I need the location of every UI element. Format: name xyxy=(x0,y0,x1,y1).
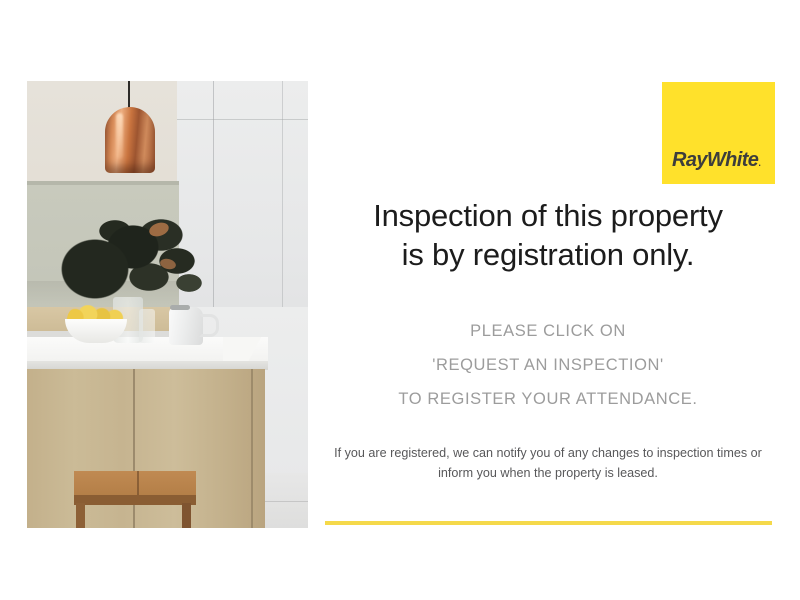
photo-cabinet-seam-vertical-2 xyxy=(282,81,283,321)
registration-note-line-1: If you are registered, we can notify you… xyxy=(334,446,762,460)
headline-line-1: Inspection of this property xyxy=(373,198,723,233)
instruction-line-3: TO REGISTER YOUR ATTENDANCE. xyxy=(322,382,774,416)
photo-wooden-stool-apron xyxy=(74,495,196,505)
yellow-divider xyxy=(325,521,772,525)
page-title: Inspection of this property is by regist… xyxy=(322,196,774,274)
registration-note: If you are registered, we can notify you… xyxy=(322,443,774,483)
inspection-notice-page: RayWhite. Inspection of this property is… xyxy=(0,0,800,600)
photo-glass-vase-small xyxy=(139,309,155,343)
kitchen-interior-photo xyxy=(27,81,308,528)
notice-content: Inspection of this property is by regist… xyxy=(322,196,774,483)
photo-pendant-highlight xyxy=(116,113,123,159)
photo-wooden-stool-leg-left xyxy=(76,503,85,528)
photo-ceramic-jug-handle xyxy=(199,314,219,337)
ray-white-logo-text: RayWhite. xyxy=(672,149,760,172)
photo-wooden-stool-leg-right xyxy=(182,503,191,528)
photo-wooden-stool-seat xyxy=(74,471,196,497)
registration-note-line-2: inform you when the property is leased. xyxy=(438,466,658,480)
photo-copper-pendant-lamp xyxy=(105,107,155,173)
photo-island-seam-2 xyxy=(251,369,253,528)
photo-ceramic-jug-lip xyxy=(170,305,190,310)
instruction-line-2: 'REQUEST AN INSPECTION' xyxy=(322,348,774,382)
photo-pendant-cord xyxy=(128,81,130,109)
ray-white-logo-word-ray: Ray xyxy=(672,149,707,171)
instruction-line-1: PLEASE CLICK ON xyxy=(322,314,774,348)
photo-ceramic-jug xyxy=(169,307,203,345)
headline-line-2: is by registration only. xyxy=(402,237,695,272)
ray-white-logo: RayWhite. xyxy=(662,82,775,184)
photo-cabinet-seam-horizontal xyxy=(177,119,308,120)
photo-foliage-arrangement xyxy=(57,191,207,303)
ray-white-logo-word-white: White xyxy=(707,149,758,171)
instruction-lines: PLEASE CLICK ON 'REQUEST AN INSPECTION' … xyxy=(322,314,774,416)
photo-cabinet-seam-vertical-1 xyxy=(213,81,214,321)
registered-mark-icon: . xyxy=(758,158,760,168)
